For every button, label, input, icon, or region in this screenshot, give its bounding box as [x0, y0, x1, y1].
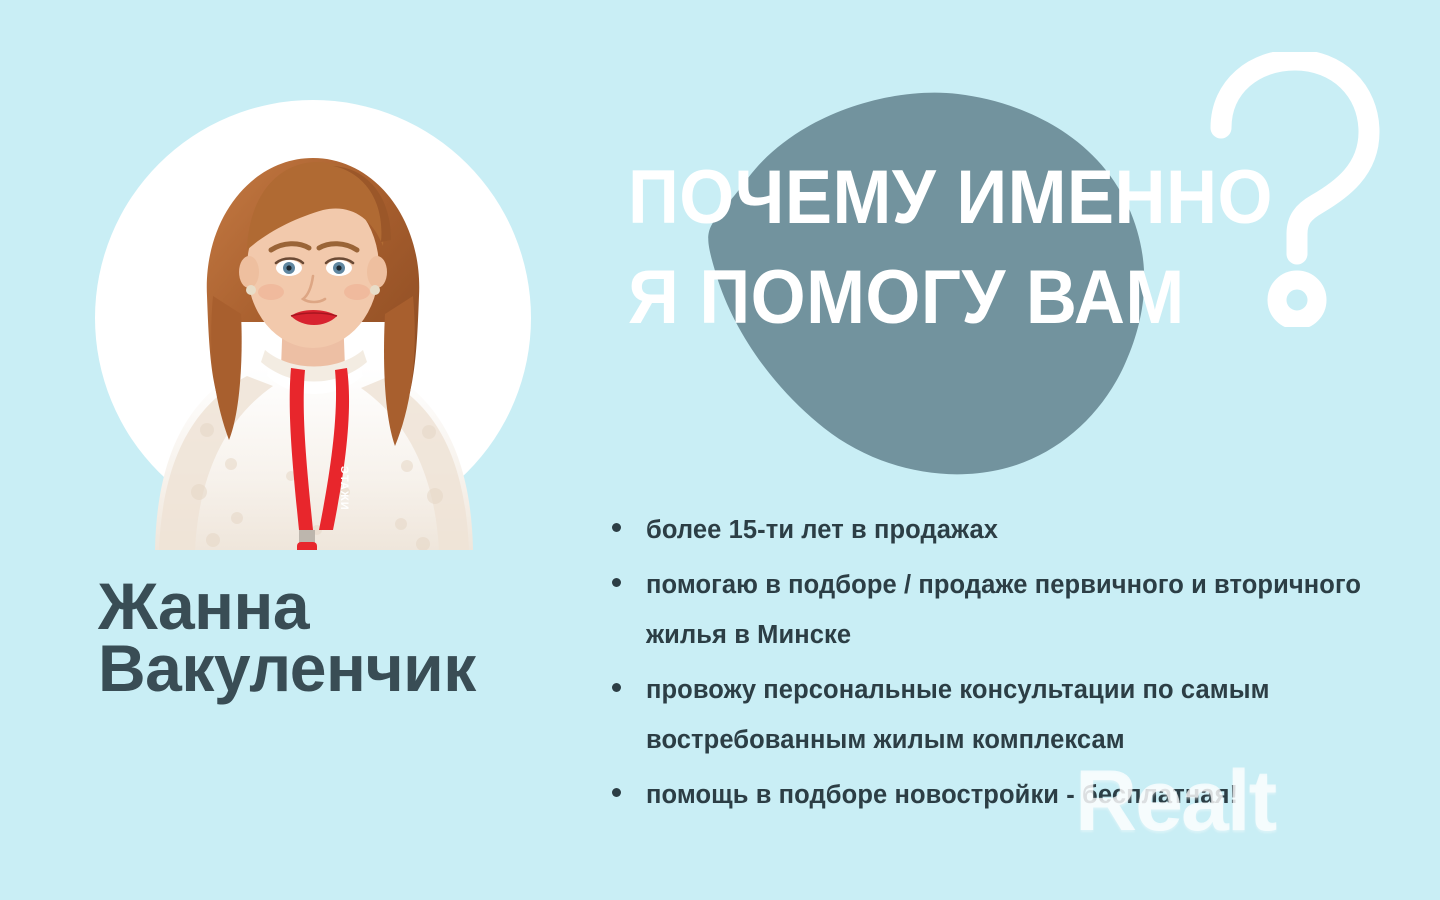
- list-item: помогаю в подборе / продаже первичного и…: [612, 560, 1422, 660]
- svg-text:ЭТАЖИ: ЭТАЖИ: [338, 466, 350, 511]
- bullet-dot-icon: [612, 788, 621, 797]
- headline-line-1: ПОЧЕМУ ИМЕННО: [628, 148, 1279, 248]
- headline-line-2: Я ПОМОГУ ВАМ: [628, 248, 1279, 348]
- list-item-label: провожу персональные консультации по сам…: [646, 665, 1422, 765]
- agent-photo: ЭТАЖИ: [95, 100, 531, 536]
- list-item: помощь в подборе новостройки - бесплатна…: [612, 770, 1422, 820]
- benefits-list: более 15-ти лет в продажах помогаю в под…: [612, 505, 1422, 825]
- list-item-label: помогаю в подборе / продаже первичного и…: [646, 560, 1422, 660]
- agent-last-name: Вакуленчик: [98, 637, 618, 699]
- agent-first-name: Жанна: [98, 575, 618, 637]
- list-item-label: помощь в подборе новостройки - бесплатна…: [646, 770, 1422, 820]
- bullet-dot-icon: [612, 523, 621, 532]
- bullet-dot-icon: [612, 683, 621, 692]
- list-item: более 15-ти лет в продажах: [612, 505, 1422, 555]
- agent-portrait-illustration: ЭТАЖИ: [95, 100, 531, 550]
- bullet-dot-icon: [612, 578, 621, 587]
- list-item: провожу персональные консультации по сам…: [612, 665, 1422, 765]
- list-item-label: более 15-ти лет в продажах: [646, 505, 1422, 555]
- question-mark-icon: [1205, 52, 1380, 327]
- agent-name: Жанна Вакуленчик: [98, 575, 618, 699]
- banner-root: ЭТАЖИ Жанна Вакуленчик ПОЧЕМУ ИМЕННО Я П…: [0, 0, 1440, 900]
